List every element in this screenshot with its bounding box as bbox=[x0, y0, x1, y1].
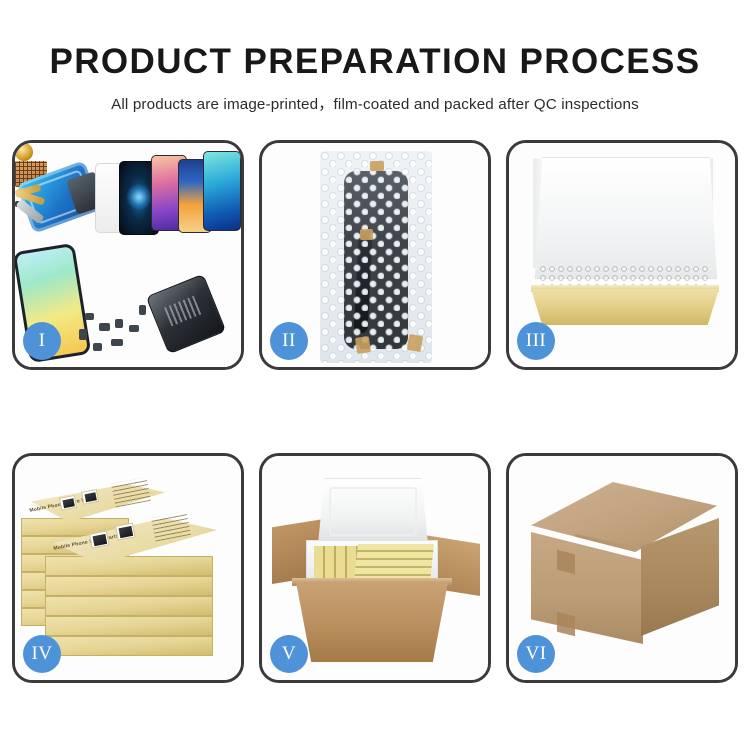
process-step-panel-3[interactable]: III bbox=[506, 140, 738, 370]
product-preparation-process-page: PRODUCT PREPARATION PROCESS All products… bbox=[0, 0, 750, 750]
white-box-lid bbox=[535, 157, 717, 279]
stacked-box bbox=[45, 596, 213, 616]
step-badge-5: V bbox=[270, 635, 308, 673]
phone-back-housing-icon bbox=[146, 274, 227, 355]
small-part-icon bbox=[85, 313, 94, 320]
small-part-icon bbox=[139, 305, 146, 315]
carton-tape-tab bbox=[557, 612, 575, 636]
process-step-panel-6[interactable]: VI bbox=[506, 453, 738, 683]
small-part-icon bbox=[79, 329, 87, 340]
header: PRODUCT PREPARATION PROCESS All products… bbox=[0, 0, 750, 114]
process-step-panel-2[interactable]: II bbox=[259, 140, 491, 370]
bubble-wrap-bag bbox=[320, 151, 432, 363]
stacked-box bbox=[45, 616, 213, 636]
step-badge-2: II bbox=[270, 322, 308, 360]
carton-front-wall bbox=[296, 582, 448, 662]
process-steps-grid: I II bbox=[12, 140, 738, 736]
tape-strip-icon bbox=[407, 334, 424, 352]
tape-strip-icon bbox=[370, 161, 384, 171]
tape-strip-icon bbox=[355, 336, 371, 354]
small-part-icon bbox=[129, 325, 139, 332]
kraft-box-base bbox=[531, 289, 719, 325]
small-part-icon bbox=[99, 323, 110, 331]
small-part-icon bbox=[115, 319, 123, 328]
process-step-panel-5[interactable]: V bbox=[259, 453, 491, 683]
page-subtitle: All products are image-printed，film-coat… bbox=[0, 81, 750, 114]
page-title: PRODUCT PREPARATION PROCESS bbox=[0, 0, 750, 81]
yellow-boxes-row bbox=[354, 544, 434, 582]
small-part-icon bbox=[111, 339, 123, 346]
step-badge-3: III bbox=[517, 322, 555, 360]
process-step-panel-1[interactable]: I bbox=[12, 140, 244, 370]
stacked-box bbox=[45, 576, 213, 596]
foam-lid bbox=[318, 478, 428, 544]
gold-coil-part-icon bbox=[15, 143, 33, 161]
bubble-texture bbox=[320, 151, 432, 363]
box-spec-lines bbox=[111, 477, 151, 507]
process-step-panel-4[interactable]: Mobile Phone Spare Parts Mobile Phone Sp… bbox=[12, 453, 244, 683]
carton-tape-tab bbox=[557, 550, 575, 574]
step-badge-1: I bbox=[23, 322, 61, 360]
small-part-icon bbox=[93, 343, 102, 351]
step-badge-4: IV bbox=[23, 635, 61, 673]
stacked-box bbox=[45, 636, 213, 656]
tape-strip-icon bbox=[360, 229, 373, 240]
teal-wave-phone-icon bbox=[203, 151, 241, 231]
step-badge-6: VI bbox=[517, 635, 555, 673]
stacked-box bbox=[45, 556, 213, 576]
